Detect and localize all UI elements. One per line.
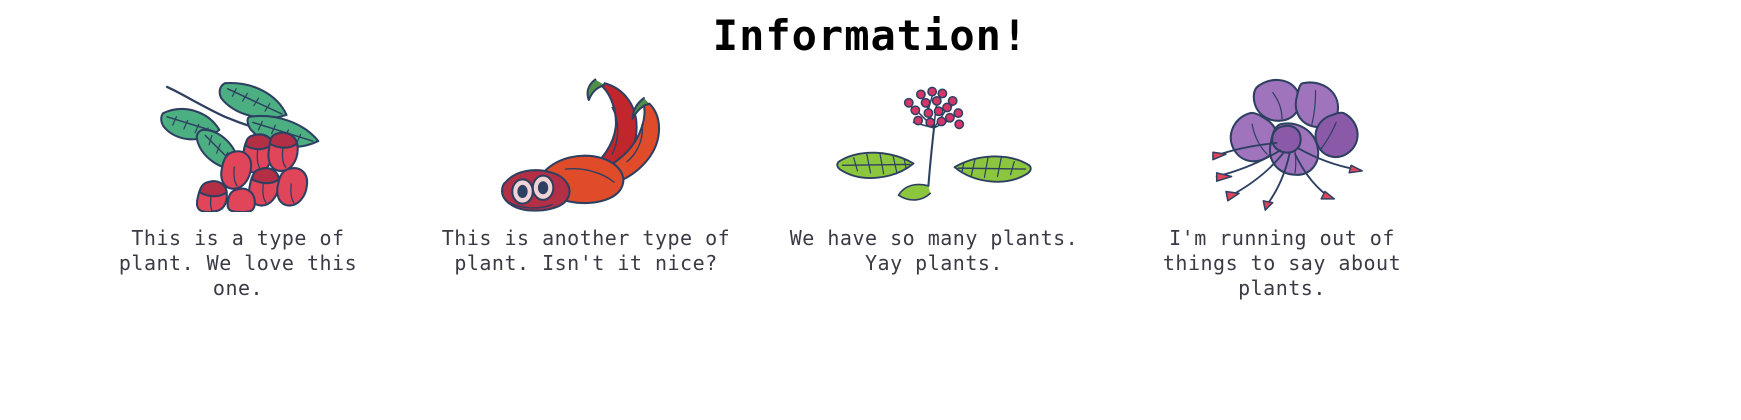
page-title: Information!	[0, 0, 1741, 60]
plant-card: We have so many plants. Yay plants.	[760, 72, 1108, 276]
plant-card: This is another type of plant. Isn't it …	[412, 72, 760, 276]
purple-flower-illustration	[1172, 72, 1392, 212]
chili-peppers-illustration	[476, 72, 696, 212]
elderberry-sprig-illustration	[824, 72, 1044, 212]
plant-card-caption: This is another type of plant. Isn't it …	[441, 226, 731, 276]
plant-card-list: This is a type of plant. We love this on…	[0, 72, 1741, 301]
plant-card-caption: We have so many plants. Yay plants.	[789, 226, 1079, 276]
plant-card: I'm running out of things to say about p…	[1108, 72, 1456, 301]
page-root: Information!	[0, 0, 1741, 420]
plant-card: This is a type of plant. We love this on…	[64, 72, 412, 301]
plant-card-caption: This is a type of plant. We love this on…	[93, 226, 383, 301]
plant-card-caption: I'm running out of things to say about p…	[1137, 226, 1427, 301]
berry-branch-illustration	[128, 72, 348, 212]
